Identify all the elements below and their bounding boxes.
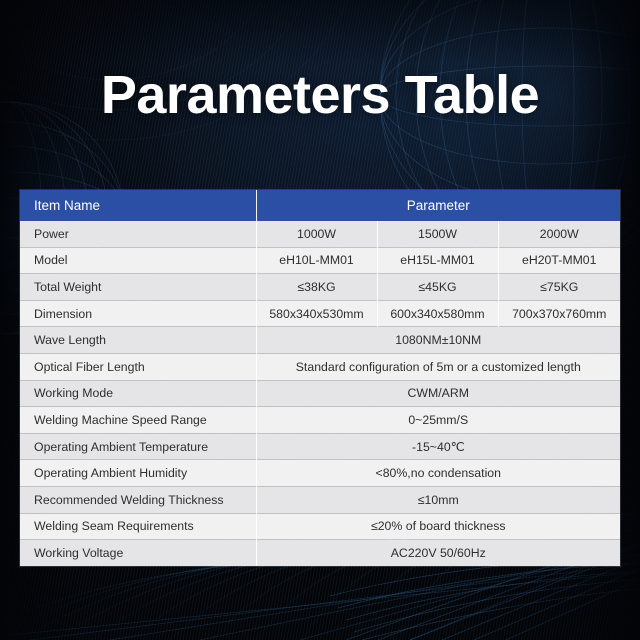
- cell-item-name: Recommended Welding Thickness: [20, 486, 256, 513]
- column-header-parameter: Parameter: [256, 190, 620, 221]
- cell-item-name: Working Mode: [20, 380, 256, 407]
- cell-parameter-value: 0~25mm/S: [256, 407, 620, 434]
- cell-parameter-value: eH10L-MM01: [256, 247, 377, 274]
- cell-item-name: Model: [20, 247, 256, 274]
- cell-parameter-value: 580x340x530mm: [256, 300, 377, 327]
- table-row: Working ModeCWM/ARM: [20, 380, 620, 407]
- cell-parameter-value: 700x370x760mm: [498, 300, 620, 327]
- table-row: Working VoltageAC220V 50/60Hz: [20, 540, 620, 566]
- cell-item-name: Power: [20, 221, 256, 247]
- cell-item-name: Welding Machine Speed Range: [20, 407, 256, 434]
- cell-parameter-value: 600x340x580mm: [377, 300, 498, 327]
- cell-item-name: Working Voltage: [20, 540, 256, 566]
- table-body: Power1000W1500W2000WModeleH10L-MM01eH15L…: [20, 221, 620, 566]
- cell-parameter-value: AC220V 50/60Hz: [256, 540, 620, 566]
- table-row: Power1000W1500W2000W: [20, 221, 620, 247]
- table-row: Operating Ambient Humidity<80%,no conden…: [20, 460, 620, 487]
- table-row: Optical Fiber LengthStandard configurati…: [20, 353, 620, 380]
- cell-parameter-value: ≤10mm: [256, 486, 620, 513]
- cell-item-name: Dimension: [20, 300, 256, 327]
- cell-parameter-value: eH20T-MM01: [498, 247, 620, 274]
- cell-parameter-value: 1080NM±10NM: [256, 327, 620, 354]
- cell-parameter-value: eH15L-MM01: [377, 247, 498, 274]
- table-row: ModeleH10L-MM01eH15L-MM01eH20T-MM01: [20, 247, 620, 274]
- cell-item-name: Wave Length: [20, 327, 256, 354]
- cell-parameter-value: ≤38KG: [256, 274, 377, 301]
- table-row: Welding Seam Requirements≤20% of board t…: [20, 513, 620, 540]
- table-row: Recommended Welding Thickness≤10mm: [20, 486, 620, 513]
- table-row: Total Weight≤38KG≤45KG≤75KG: [20, 274, 620, 301]
- table-row: Dimension580x340x530mm600x340x580mm700x3…: [20, 300, 620, 327]
- cell-parameter-value: ≤20% of board thickness: [256, 513, 620, 540]
- cell-item-name: Welding Seam Requirements: [20, 513, 256, 540]
- cell-parameter-value: -15~40℃: [256, 433, 620, 460]
- table-header: Item Name Parameter: [20, 190, 620, 221]
- cell-parameter-value: Standard configuration of 5m or a custom…: [256, 353, 620, 380]
- table-row: Operating Ambient Temperature-15~40℃: [20, 433, 620, 460]
- parameters-table-container: Item Name Parameter Power1000W1500W2000W…: [20, 190, 620, 566]
- table-row: Wave Length1080NM±10NM: [20, 327, 620, 354]
- table-row: Welding Machine Speed Range0~25mm/S: [20, 407, 620, 434]
- cell-item-name: Operating Ambient Humidity: [20, 460, 256, 487]
- page-title: Parameters Table: [0, 60, 640, 130]
- table-header-row: Item Name Parameter: [20, 190, 620, 221]
- cell-item-name: Total Weight: [20, 274, 256, 301]
- cell-parameter-value: CWM/ARM: [256, 380, 620, 407]
- cell-item-name: Optical Fiber Length: [20, 353, 256, 380]
- column-header-item-name: Item Name: [20, 190, 256, 221]
- cell-item-name: Operating Ambient Temperature: [20, 433, 256, 460]
- cell-parameter-value: 1500W: [377, 221, 498, 247]
- cell-parameter-value: <80%,no condensation: [256, 460, 620, 487]
- cell-parameter-value: 2000W: [498, 221, 620, 247]
- cell-parameter-value: ≤45KG: [377, 274, 498, 301]
- cell-parameter-value: 1000W: [256, 221, 377, 247]
- cell-parameter-value: ≤75KG: [498, 274, 620, 301]
- parameters-table: Item Name Parameter Power1000W1500W2000W…: [20, 190, 620, 566]
